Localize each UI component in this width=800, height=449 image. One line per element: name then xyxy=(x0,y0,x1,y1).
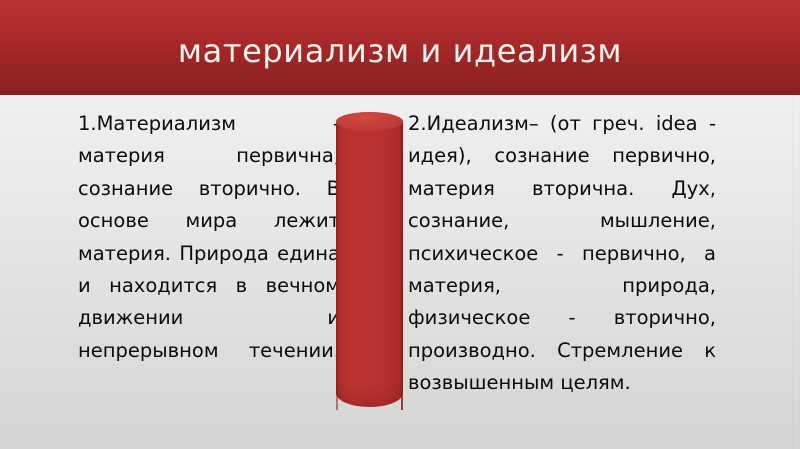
cylinder-top-ellipse xyxy=(336,112,403,131)
slide-canvas: материализм и идеализм 1.Материализм - м… xyxy=(0,0,800,449)
cylinder-left-edge xyxy=(336,121,338,410)
cylinder-bottom-shading xyxy=(336,381,403,407)
paragraph-materialism: 1.Материализм - материя первична, сознан… xyxy=(78,108,340,400)
text-column-right: 2.Идеализм– (от греч. idea - идея), созн… xyxy=(408,108,716,400)
cylinder-right-edge xyxy=(401,121,403,410)
page-title: материализм и идеализм xyxy=(0,0,800,95)
slide-header-band: материализм и идеализм xyxy=(0,0,800,95)
slide-body: 1.Материализм - материя первична, сознан… xyxy=(0,95,800,449)
text-column-left: 1.Материализм - материя первична, сознан… xyxy=(78,108,340,400)
right-edge-rule xyxy=(793,95,794,449)
red-cylinder-shape xyxy=(336,112,403,415)
paragraph-idealism: 2.Идеализм– (от греч. idea - идея), созн… xyxy=(408,108,716,400)
cylinder-body xyxy=(336,121,403,407)
